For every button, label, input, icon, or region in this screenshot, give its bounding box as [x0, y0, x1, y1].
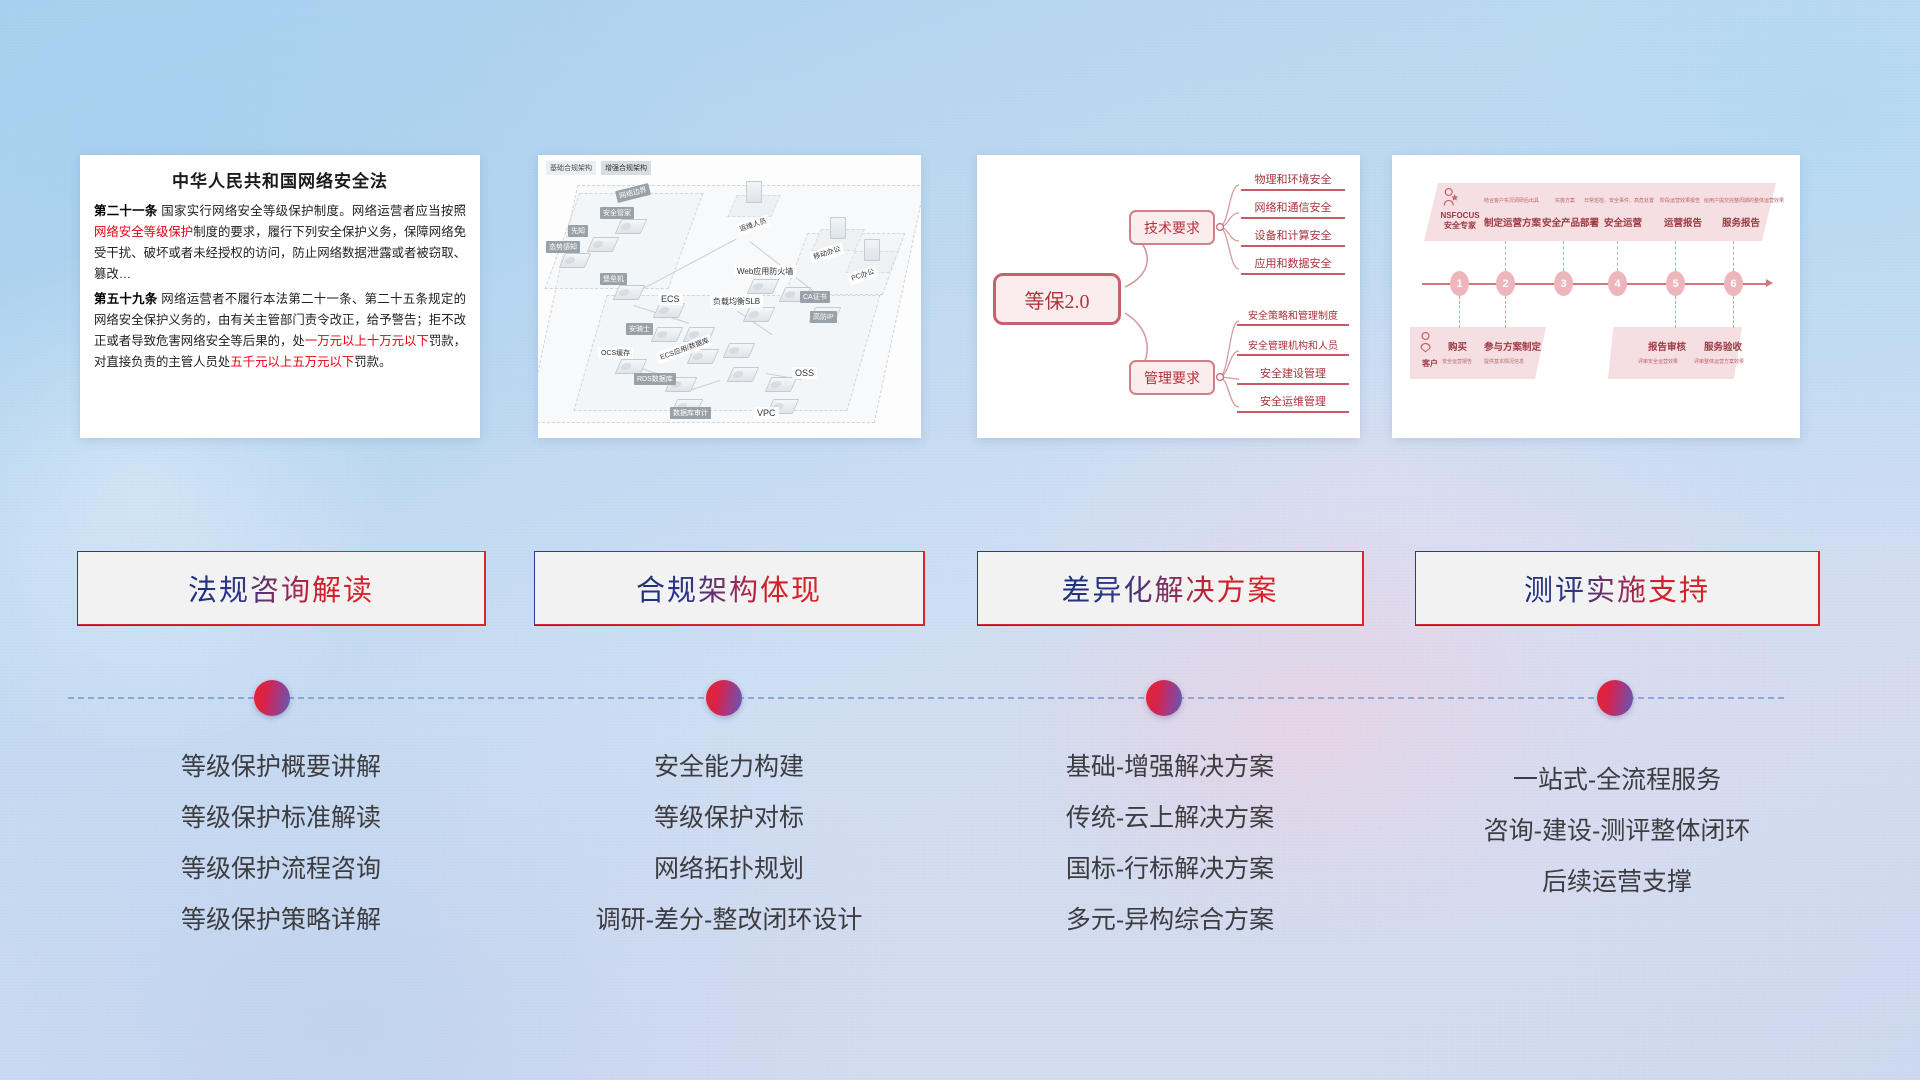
architecture-label-situational-awareness: 态势感知	[546, 241, 580, 253]
timeline-node-5: 5	[1666, 271, 1685, 296]
pillar-4-bullet-0: 一站式-全流程服务	[1415, 755, 1819, 806]
vendor-brand-line2: 安全专家	[1430, 221, 1490, 231]
pillar-headline-3[interactable]: 差异化解决方案	[977, 551, 1363, 625]
pillar-headline-2[interactable]: 合规架构体现	[534, 551, 924, 625]
timeline-tick-2-top	[1505, 241, 1506, 271]
timeline-node-4: 4	[1608, 271, 1627, 296]
pillar-1-bullet-1: 等级保护标准解读	[77, 793, 485, 844]
pillar-1-bullet-0: 等级保护概要讲解	[77, 742, 485, 793]
vendor-brand-line1: NSFOCUS	[1430, 211, 1490, 221]
timeline-step-5-top-note: 阶段运营效果报告	[1660, 197, 1700, 204]
architecture-server-pc-icon	[864, 239, 880, 261]
pillar-2-bullet-1: 等级保护对标	[534, 793, 924, 844]
timeline-dot-1[interactable]	[254, 680, 290, 716]
architecture-label-database-audit: 数据库审计	[670, 407, 711, 419]
mindmap-leaf-tech-2: 设备和计算安全	[1241, 227, 1345, 247]
pillar-bullets-1: 等级保护概要讲解 等级保护标准解读 等级保护流程咨询 等级保护策略详解	[77, 742, 485, 946]
service-timeline: NSFOCUS 安全专家 客户 1 2 3 4 5 6	[1392, 155, 1800, 438]
timeline-step-2-top-note: 结合客户实况调研后出具	[1484, 197, 1539, 204]
pillar-2-bullet-3: 调研-差分-整改闭环设计	[534, 895, 924, 946]
timeline-step-2-bottom-title: 参与方案制定	[1484, 339, 1541, 353]
architecture-server-operator-icon	[746, 181, 762, 203]
timeline-step-2-top-title: 制定运营方案	[1484, 215, 1541, 229]
timeline-step-1-bottom-title: 购买	[1448, 339, 1467, 353]
timeline-tick-1-bottom	[1459, 296, 1460, 328]
pillar-bullets-3: 基础-增强解决方案 传统-云上解决方案 国标-行标解决方案 多元-异构综合方案	[977, 742, 1363, 946]
law-title: 中华人民共和国网络安全法	[94, 167, 466, 192]
timeline-step-4-top-note: 日常巡检、安全事件、高危处置	[1584, 197, 1654, 204]
timeline-step-5-bottom-note: 评审安全运营效果	[1638, 358, 1678, 365]
timeline-step-6-bottom-note: 评审整体运营方案效果	[1694, 358, 1744, 365]
pillar-4-bullet-2: 后续运营支撑	[1415, 857, 1819, 908]
architecture-label-security-butler: 安全管家	[600, 207, 634, 219]
timeline-dot-4[interactable]	[1597, 680, 1633, 716]
pillar-bullets-4: 一站式-全流程服务 咨询-建设-测评整体闭环 后续运营支撑	[1415, 755, 1819, 908]
pillar-3-bullet-0: 基础-增强解决方案	[977, 742, 1363, 793]
card-mindmap-dengbao: 等保2.0 技术要求 管理要求 物理和环境安全 网络和通信安全 设备和计算安全 …	[977, 155, 1360, 438]
timeline-tick-6-bottom	[1733, 296, 1734, 328]
pillar-bullets-2: 安全能力构建 等级保护对标 网络拓扑规划 调研-差分-整改闭环设计	[534, 742, 924, 946]
timeline-step-5-bottom-title: 报告审核	[1648, 339, 1686, 353]
pillar-headline-4-text: 测评实施支持	[1524, 567, 1710, 609]
mindmap-leaf-mgmt-2: 安全建设管理	[1237, 365, 1349, 385]
pillar-headline-1-text: 法规咨询解读	[188, 567, 374, 609]
law-article-1-seg-0: 国家实行网络安全等级保护制度。网络运营者应当按照	[158, 204, 466, 218]
timeline-step-6-top-title: 服务报告	[1722, 215, 1760, 229]
architecture-label-rds-database: RDS数据库	[634, 373, 676, 385]
mindmap-leaf-tech-0: 物理和环境安全	[1241, 171, 1345, 191]
mindmap-branch-management: 管理要求	[1129, 360, 1215, 395]
architecture-label-vpc: VPC	[754, 407, 779, 419]
mindmap: 等保2.0 技术要求 管理要求 物理和环境安全 网络和通信安全 设备和计算安全 …	[977, 155, 1360, 438]
architecture-label-xianzhi: 先知	[568, 225, 588, 237]
timeline-step-2-bottom-note: 提供基本情况信息	[1484, 358, 1524, 365]
pillar-4-bullet-1: 咨询-建设-测评整体闭环	[1415, 806, 1819, 857]
architecture-diagram: 基础合规架构 增强合规架构	[538, 155, 921, 438]
timeline-step-4-top-title: 安全运营	[1604, 215, 1642, 229]
timeline-tick-2-bottom	[1505, 296, 1506, 328]
timeline-dashed-line	[68, 697, 1784, 699]
card-cybersecurity-law: 中华人民共和国网络安全法 第二十一条 国家实行网络安全等级保护制度。网络运营者应…	[80, 155, 480, 438]
timeline-step-6-top-note: 给用户提交完整周期的整体运营效果	[1704, 197, 1784, 204]
law-article-1-seg-1: 网络安全等级保护	[94, 225, 193, 239]
architecture-server-mobile-icon	[830, 217, 846, 239]
timeline-step-6-bottom-title: 服务验收	[1704, 339, 1742, 353]
timeline-tick-3-top	[1563, 241, 1564, 271]
mindmap-leaf-mgmt-1: 安全管理机构和人员	[1237, 337, 1349, 356]
card-service-timeline: NSFOCUS 安全专家 客户 1 2 3 4 5 6	[1392, 155, 1800, 438]
law-article-2: 第五十九条 网络运营者不履行本法第二十一条、第二十五条规定的网络安全保护义务的，…	[94, 289, 466, 373]
pillar-2-bullet-0: 安全能力构建	[534, 742, 924, 793]
mindmap-leaf-tech-3: 应用和数据安全	[1241, 255, 1345, 275]
architecture-label-high-defense-ip: 高防IP	[810, 311, 837, 323]
mindmap-root-node: 等保2.0	[993, 273, 1121, 325]
pillar-headline-4[interactable]: 测评实施支持	[1415, 551, 1819, 625]
timeline-tick-5-bottom	[1675, 296, 1676, 328]
law-article-2-seg-4: 罚款。	[354, 355, 391, 369]
tab-basic-architecture[interactable]: 基础合规架构	[546, 161, 596, 175]
law-article-2-seg-3: 五千元以上五万元以下	[230, 355, 354, 369]
timeline-step-1-bottom-note: 安全运营报告	[1442, 358, 1472, 365]
timeline-step-5-top-title: 运营报告	[1664, 215, 1702, 229]
timeline-node-2: 2	[1496, 271, 1515, 296]
timeline-arrow-icon	[1766, 279, 1773, 287]
timeline-step-3-top-title: 安全产品部署	[1542, 215, 1599, 229]
law-article-2-seg-1: 一万元以上十万元以下	[305, 334, 429, 348]
pillar-2-bullet-2: 网络拓扑规划	[534, 844, 924, 895]
law-article-2-label: 第五十九条	[94, 292, 158, 306]
card-compliance-architecture: 基础合规架构 增强合规架构	[538, 155, 921, 438]
timeline-node-1: 1	[1450, 271, 1469, 296]
law-body: 中华人民共和国网络安全法 第二十一条 国家实行网络安全等级保护制度。网络运营者应…	[80, 155, 480, 385]
architecture-label-ecs: ECS	[658, 293, 683, 305]
slide-stage: 中华人民共和国网络安全法 第二十一条 国家实行网络安全等级保护制度。网络运营者应…	[0, 0, 1920, 1080]
timeline-node-6: 6	[1724, 271, 1743, 296]
mindmap-leaf-mgmt-3: 安全运维管理	[1237, 393, 1349, 413]
mindmap-leaf-mgmt-0: 安全策略和管理制度	[1237, 307, 1349, 326]
tab-enhanced-architecture[interactable]: 增强合规架构	[601, 161, 651, 175]
pillar-headline-1[interactable]: 法规咨询解读	[77, 551, 485, 625]
law-article-1: 第二十一条 国家实行网络安全等级保护制度。网络运营者应当按照网络安全等级保护制度…	[94, 201, 466, 285]
architecture-label-slb: 负载均衡SLB	[710, 295, 763, 308]
law-article-1-label: 第二十一条	[94, 204, 158, 218]
timeline-band-customer-right	[1608, 327, 1742, 379]
architecture-label-bastion-host: 堡垒机	[600, 273, 627, 285]
pillar-1-bullet-3: 等级保护策略详解	[77, 895, 485, 946]
architecture-tabs: 基础合规架构 增强合规架构	[546, 161, 651, 175]
mindmap-leaf-tech-1: 网络和通信安全	[1241, 199, 1345, 219]
timeline-step-3-top-note: 实施方案	[1555, 197, 1575, 204]
expert-person-icon	[1442, 187, 1460, 209]
mindmap-branch-technical: 技术要求	[1129, 210, 1215, 245]
timeline-tick-5-top	[1675, 241, 1676, 271]
timeline-dot-3[interactable]	[1146, 680, 1182, 716]
architecture-label-anqishi: 安骑士	[626, 323, 653, 335]
pillar-headline-2-text: 合规架构体现	[636, 567, 822, 609]
timeline-dot-2[interactable]	[706, 680, 742, 716]
architecture-label-ocs-cache: OCS缓存	[598, 347, 633, 359]
pillar-3-bullet-1: 传统-云上解决方案	[977, 793, 1363, 844]
architecture-label-oss: OSS	[792, 367, 817, 379]
pillar-1-bullet-2: 等级保护流程咨询	[77, 844, 485, 895]
timeline-node-3: 3	[1554, 271, 1573, 296]
architecture-label-waf: Web应用防火墙	[734, 265, 796, 278]
timeline-tick-6-top	[1733, 241, 1734, 271]
pillar-headline-3-text: 差异化解决方案	[1061, 567, 1278, 609]
pillar-3-bullet-3: 多元-异构综合方案	[977, 895, 1363, 946]
customer-person-icon	[1418, 331, 1436, 353]
pillar-3-bullet-2: 国标-行标解决方案	[977, 844, 1363, 895]
architecture-label-ca-certificate: CA证书	[800, 291, 830, 303]
timeline-tick-4-top	[1617, 241, 1618, 271]
timeline-axis	[1422, 283, 1768, 285]
